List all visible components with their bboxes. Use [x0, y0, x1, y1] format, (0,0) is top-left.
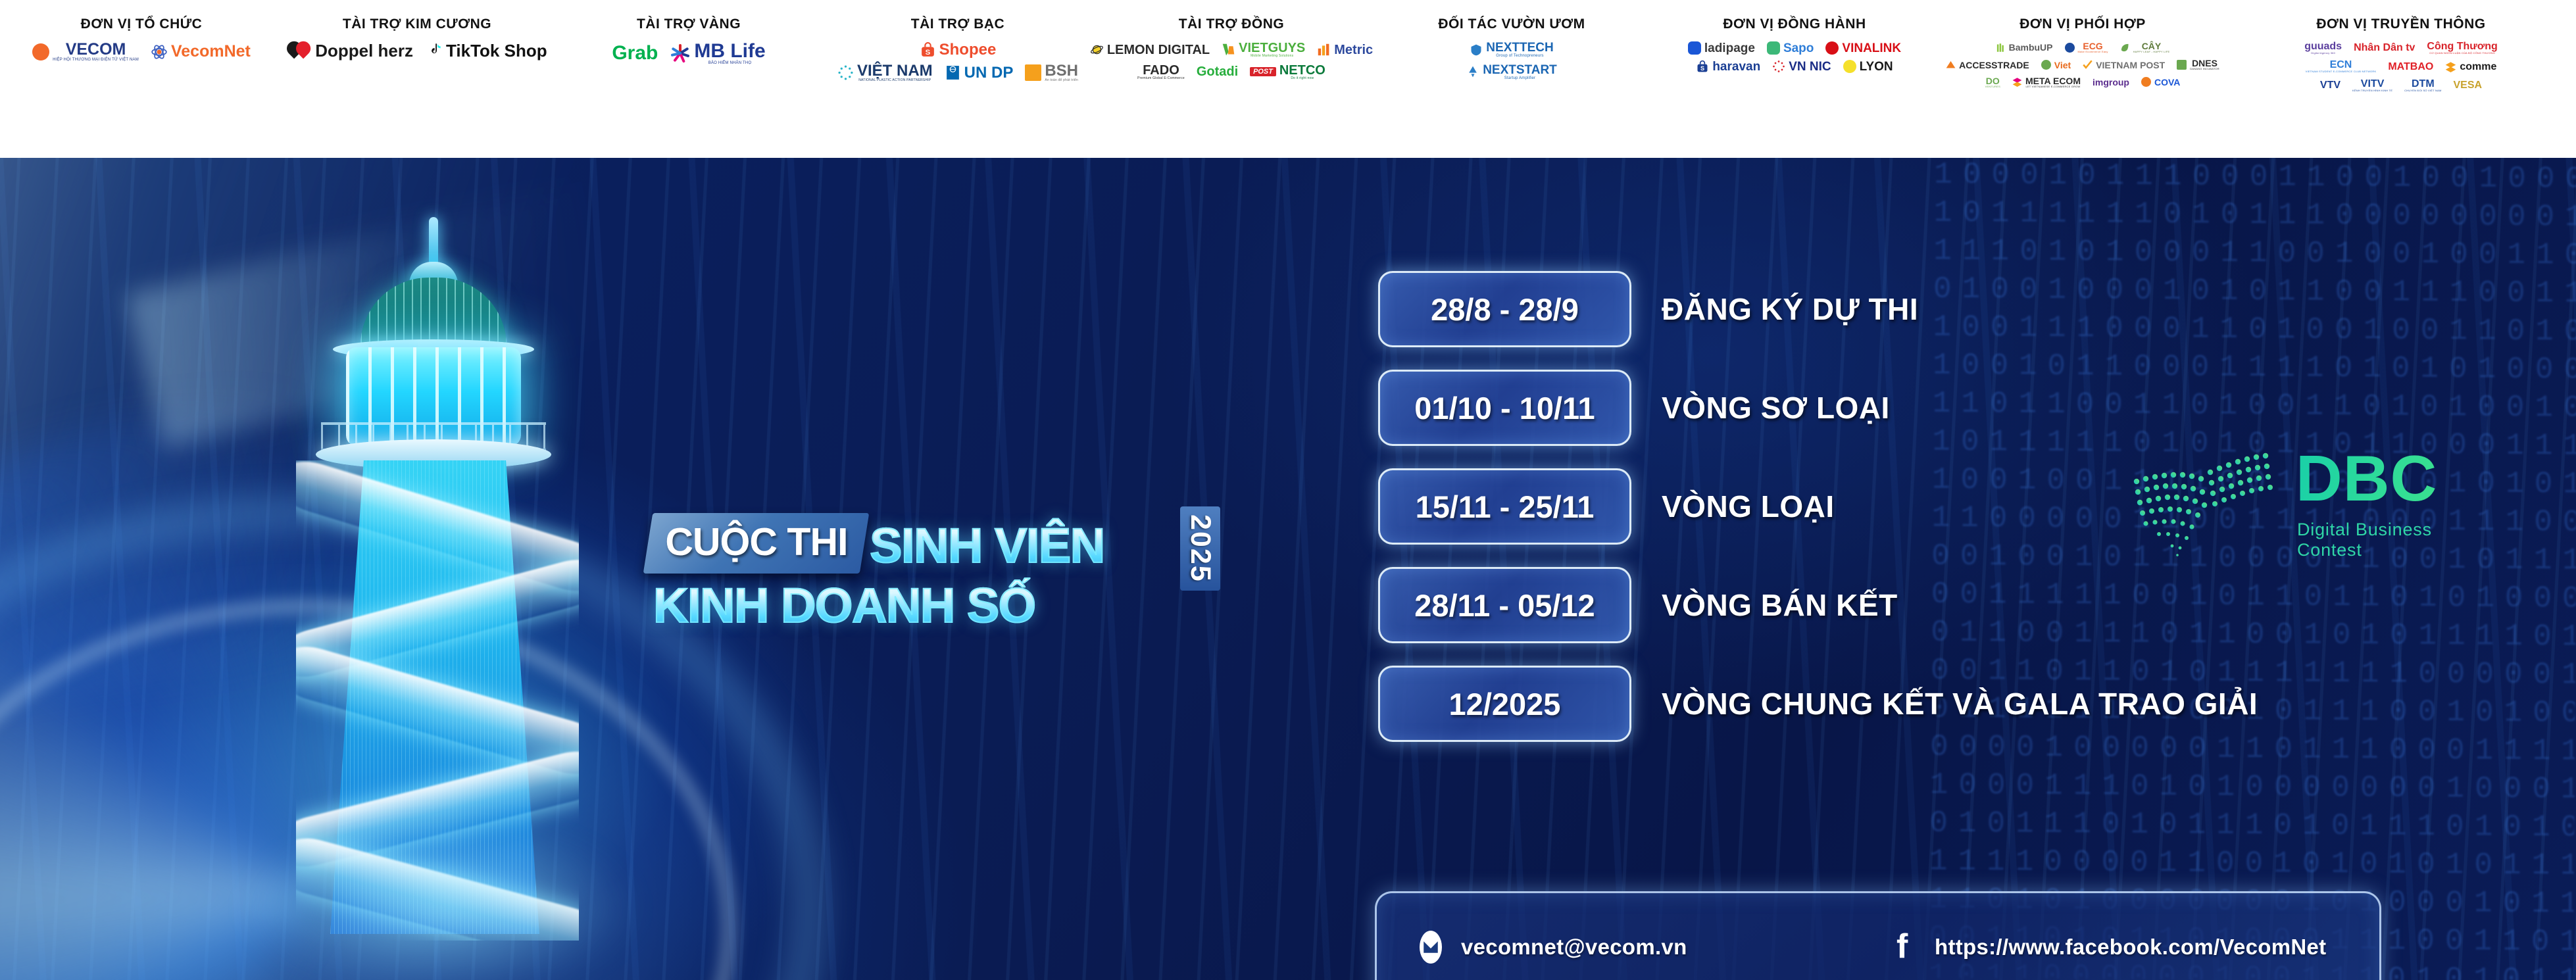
guuads-logo[interactable]: guuads Digital Agency 360: [2304, 41, 2342, 55]
triangle-icon: [1946, 60, 1956, 70]
logo-mark-icon: [32, 43, 49, 61]
sponsor-logo-rows: Doppel herz TikTok Shop: [287, 41, 547, 59]
vnnic-logo[interactable]: VN NIC: [1772, 60, 1831, 73]
logo-text: Shopee: [939, 42, 997, 58]
contact-box: vecomnet@vecom.vn f https://www.facebook…: [1375, 891, 2381, 980]
event-banner: 1000101110001100100100000110011010 10111…: [0, 158, 2576, 980]
bsh-logo[interactable]: BSH An toàn để phát triển: [1025, 63, 1078, 83]
logo-text: Gotadi: [1197, 65, 1238, 78]
title-line-2-text: KINH DOANH SỐ: [648, 577, 1041, 633]
post-badge-icon: POST: [1250, 67, 1276, 76]
logo-text: VN NIC: [1789, 61, 1831, 73]
logo-text: haravan: [1712, 61, 1760, 73]
sponsor-group-title: TÀI TRỢ KIM CƯƠNG: [343, 17, 491, 31]
undp-globe-icon: [945, 64, 961, 81]
title-year: 2025: [1180, 506, 1220, 591]
logo-text: VTV: [2320, 80, 2341, 91]
logo-text: NEXTTECH: [1486, 41, 1553, 54]
lighthouse-illustration: [217, 178, 651, 941]
star-burst-icon: [670, 43, 691, 64]
title-line-2: KINH DOANH SỐ: [648, 577, 1227, 633]
lighthouse-spire: [429, 217, 438, 268]
shield-icon: [1470, 43, 1483, 57]
fado-logo[interactable]: FADO Premium Global E-Commerce: [1137, 64, 1185, 81]
logo-text: UN DP: [964, 65, 1014, 81]
sponsor-logo-row: Doppel herz TikTok Shop: [287, 41, 547, 59]
sponsor-group-title: ĐƠN VỊ ĐỒNG HÀNH: [1723, 17, 1866, 31]
schedule-date-badge: 15/11 - 25/11: [1378, 468, 1631, 545]
sponsor-logo-row: VTV VITV KÊNH TRUYỀN HÌNH KINH TẾ DTM CH…: [2320, 79, 2482, 92]
schedule-phase-label: ĐĂNG KÝ DỰ THI: [1662, 291, 1918, 327]
logo-text: LYON: [1860, 61, 1893, 73]
haravan-logo[interactable]: S haravan: [1696, 60, 1760, 73]
logo-text: DO: [1986, 76, 2000, 86]
sponsor-group-9: ĐƠN VỊ TRUYỀN THÔNG guuads Digital Agenc…: [2226, 0, 2576, 158]
lighthouse-base-glow: [243, 822, 638, 980]
logo-subtext: Startup Amplifier: [1504, 76, 1535, 81]
contact-facebook[interactable]: f https://www.facebook.com/VecomNet: [1887, 930, 2342, 964]
schedule-date-badge: 12/2025: [1378, 666, 1631, 742]
doppelherz-logo[interactable]: Doppel herz: [287, 41, 413, 59]
sponsor-logo-row: NEXTSTART Startup Amplifier: [1466, 64, 1557, 81]
ladipage-logo[interactable]: ladipage: [1688, 41, 1755, 55]
logo-text: VINALINK: [1842, 42, 1901, 55]
leaf-icon: [2120, 43, 2130, 53]
sponsor-group-6: ĐỐI TÁC VƯỜN ƯƠM NEXTTECH Group of Techn…: [1374, 0, 1650, 158]
logo-text: ACCESSTRADE: [1959, 61, 2029, 70]
logo-text: VESA: [2453, 80, 2482, 91]
title-chip: CUỘC THI: [643, 513, 870, 574]
schedule-row-5: 12/2025 VÒNG CHUNG KẾT VÀ GALA TRAO GIẢI: [1378, 654, 2404, 753]
sponsor-header: ĐƠN VỊ TỔ CHỨC VECOM HIỆP HỘI THƯƠNG MẠI…: [0, 0, 2576, 158]
atom-icon: [151, 43, 168, 61]
vietguys-v-icon: [1222, 43, 1235, 57]
sponsor-group-title: TÀI TRỢ BẠC: [911, 17, 1004, 31]
schedule-phase-label: VÒNG SƠ LOẠI: [1662, 390, 1890, 426]
logo-subtext: Premium Global E-Commerce: [1137, 77, 1185, 81]
logo-text: VIETGUYS: [1239, 41, 1305, 55]
ecn-logo[interactable]: ECN VIETNAM STUDENT E-COMMERCE CLUB NETW…: [2306, 60, 2377, 73]
schedule-date-text: 12/2025: [1449, 686, 1561, 722]
cova-logo[interactable]: COVA: [2141, 77, 2180, 87]
logo-subtext: An toàn để phát triển: [1045, 79, 1078, 83]
lemon-digital-logo[interactable]: LEMON DIGITAL: [1090, 43, 1210, 57]
logo-text: ladipage: [1704, 42, 1755, 55]
sponsor-group-5: TÀI TRỢ ĐỒNG LEMON DIGITAL VIETGUYS Mobi…: [1089, 0, 1374, 158]
shopping-bag-icon: S: [920, 41, 936, 58]
title-line-1-text: SINH VIÊN: [864, 518, 1110, 574]
sponsor-logo-row: FADO Premium Global E-Commerce Gotadi PO…: [1137, 64, 1325, 81]
accesstrade-logo[interactable]: ACCESSTRADE: [1946, 60, 2029, 70]
sponsor-logo-row: ladipage Sapo VINALINK: [1688, 41, 1901, 55]
schedule-date-badge: 28/11 - 05/12: [1378, 567, 1631, 643]
logo-subtext: Mobile Marketing Solutions: [1251, 55, 1293, 59]
sponsor-logo-rows: guuads Digital Agency 360 Nhân Dân tv Cô…: [2304, 41, 2498, 92]
dots-ring-icon: [837, 64, 854, 81]
dbc-tagline: Digital Business Contest: [2297, 520, 2500, 560]
sponsor-group-title: ĐƠN VỊ PHỐI HỢP: [2019, 17, 2146, 31]
logo-text: BSH: [1045, 63, 1078, 79]
facebook-icon: f: [1887, 930, 1921, 964]
sponsor-group-title: TÀI TRỢ VÀNG: [637, 17, 741, 31]
sponsor-logo-row: VIỆT NAM NATIONAL PLASTIC ACTION PARTNER…: [837, 63, 1078, 83]
schedule-row-1: 28/8 - 28/9 ĐĂNG KÝ DỰ THI: [1378, 260, 2404, 358]
logo-subtext: Do it right now: [1291, 77, 1314, 81]
logo-subtext: DANANG INCUBATOR: [2190, 68, 2219, 70]
logo-subtext: NATIONAL PLASTIC ACTION PARTNERSHIP: [858, 79, 931, 83]
schedule-date-text: 01/10 - 10/11: [1414, 390, 1595, 426]
vitv-logo[interactable]: VITV KÊNH TRUYỀN HÌNH KINH TẾ: [2352, 79, 2392, 92]
logo-subtext: VENTURES: [1985, 86, 2000, 88]
logo-text: VECOM: [66, 41, 126, 58]
logo-subtext: CƠ QUAN NGÔN LUẬN CỦA BỘ CÔNG THƯƠNG: [2429, 52, 2495, 55]
shopee-logo[interactable]: S Shopee: [920, 41, 997, 58]
tiktok-shop-logo[interactable]: TikTok Shop: [425, 41, 547, 59]
svg-text:S: S: [1700, 65, 1704, 72]
cong-thuong-logo[interactable]: Công Thương CƠ QUAN NGÔN LUẬN CỦA BỘ CÔN…: [2427, 41, 2497, 55]
logo-subtext: Digital Agency 360: [2311, 52, 2335, 55]
sponsor-group-title: ĐƠN VỊ TỔ CHỨC: [81, 17, 203, 31]
dbc-wordmark: DBC: [2296, 446, 2437, 510]
sponsor-logo-rows: VECOM HIỆP HỘI THƯƠNG MẠI ĐIỆN TỬ VIỆT N…: [32, 41, 251, 62]
nexttech-logo[interactable]: NEXTTECH Group of Technopreneurs: [1470, 41, 1553, 59]
logo-text: VecomNet: [171, 43, 251, 60]
sponsor-logo-row: DO VENTURES META ECOM LET VIETNAMESE E-C…: [1985, 76, 2181, 88]
contact-email-text: vecomnet@vecom.vn: [1461, 935, 1687, 960]
logo-text: LEMON DIGITAL: [1107, 43, 1210, 57]
contest-title-lockup: CUỘC THI SINH VIÊN KINH DOANH SỐ 2025: [648, 513, 1227, 697]
mblife-logo[interactable]: MB Life BẢO HIỂM NHÂN THỌ: [670, 41, 765, 66]
schedule-date-badge: 28/8 - 28/9: [1378, 271, 1631, 347]
imgroup-logo[interactable]: imgroup: [2093, 78, 2129, 87]
dots-ring-icon: [1772, 60, 1785, 73]
sponsor-logo-rows: LEMON DIGITAL VIETGUYS Mobile Marketing …: [1090, 41, 1373, 80]
logo-text: Grab: [612, 43, 658, 63]
logo-text: Sapo: [1783, 42, 1814, 55]
sponsor-group-title: ĐƠN VỊ TRUYỀN THÔNG: [2316, 17, 2485, 31]
matbao-logo[interactable]: MATBAO: [2388, 62, 2433, 72]
logo-subtext: VIETNAM STUDENT E-COMMERCE CLUB NETWORK: [2306, 70, 2377, 73]
tiktok-note-icon: [425, 41, 443, 59]
vesa-logo[interactable]: VESA: [2453, 80, 2482, 91]
dtm-logo[interactable]: DTM CHUYỂN ĐỔI SỐ VIỆT NAM: [2404, 79, 2441, 92]
logo-mark-icon: [1767, 41, 1780, 55]
sponsor-logo-rows: Grab MB Life BẢO HIỂM NHÂN THỌ: [612, 41, 765, 66]
logo-subtext: Group of Technopreneurs: [1496, 54, 1544, 59]
logo-mark-icon: [1025, 64, 1041, 81]
logo-subtext: HAPPY LEAF - HAPPY LIFE: [2133, 51, 2170, 53]
logo-mark-icon: [2065, 43, 2075, 53]
bar-chart-icon: [1317, 43, 1331, 57]
sponsor-group-title: TÀI TRỢ ĐỒNG: [1179, 17, 1284, 31]
rocket-icon: [1466, 65, 1479, 78]
netco-post-logo[interactable]: POST NETCO Do it right now: [1250, 64, 1325, 81]
sponsor-logo-row: ECN VIETNAM STUDENT E-COMMERCE CLUB NETW…: [2306, 60, 2497, 73]
logo-text: VIỆT NAM: [857, 63, 933, 79]
logo-text: CÂY: [2142, 41, 2162, 51]
vietnam-post-logo[interactable]: VIETNAM POST: [2083, 60, 2165, 70]
dbc-mark-icon: [2131, 441, 2292, 559]
email-icon: [1414, 930, 1448, 964]
check-icon: [2083, 60, 2093, 70]
npap-vietnam-logo[interactable]: VIỆT NAM NATIONAL PLASTIC ACTION PARTNER…: [837, 63, 933, 83]
lyon-logo[interactable]: LYON: [1843, 60, 1893, 73]
logo-text: Viet: [2054, 61, 2071, 70]
schedule-date-badge: 01/10 - 10/11: [1378, 370, 1631, 446]
svg-text:S: S: [925, 49, 930, 57]
logo-mark-icon: [1825, 41, 1839, 55]
logo-text: MB Life: [694, 41, 765, 61]
vecom-logo[interactable]: VECOM HIỆP HỘI THƯƠNG MẠI ĐIỆN TỬ VIỆT N…: [32, 41, 139, 62]
vietguys-logo[interactable]: VIETGUYS Mobile Marketing Solutions: [1222, 41, 1305, 59]
logo-text: COVA: [2154, 78, 2180, 87]
sapo-logo[interactable]: Sapo: [1767, 41, 1814, 55]
layers-icon: [2445, 61, 2456, 72]
logo-text: NEXTSTART: [1483, 64, 1557, 76]
nextstart-logo[interactable]: NEXTSTART Startup Amplifier: [1466, 64, 1557, 81]
sponsor-logo-row: Grab MB Life BẢO HIỂM NHÂN THỌ: [612, 41, 765, 66]
comme-logo[interactable]: comme: [2445, 61, 2496, 72]
logo-text: Nhân Dân tv: [2354, 43, 2415, 53]
cay-logo[interactable]: CÂY HAPPY LEAF - HAPPY LIFE: [2120, 41, 2170, 53]
logo-text: DNES: [2192, 59, 2217, 68]
ecg-logo[interactable]: ECG Make Ecommerce Easy: [2065, 41, 2108, 53]
gotadi-logo[interactable]: Gotadi: [1197, 65, 1238, 78]
schedule-phase-label: VÒNG LOẠI: [1662, 489, 1835, 524]
layers-icon: [2012, 77, 2022, 87]
sponsor-logo-row: VECOM HIỆP HỘI THƯƠNG MẠI ĐIỆN TỬ VIỆT N…: [32, 41, 251, 62]
sponsor-group-4: TÀI TRỢ BẠCS Shopee VIỆT NAM NATIONAL PL…: [826, 0, 1089, 158]
bamboo-icon: [1996, 43, 2006, 53]
schedule-date-text: 15/11 - 25/11: [1416, 489, 1595, 525]
meta-ecom-logo[interactable]: META ECOM LET VIETNAMESE E-COMMERCE GROW: [2012, 76, 2081, 88]
sponsor-group-7: ĐƠN VỊ ĐỒNG HÀNH ladipage Sapo VINALINK …: [1650, 0, 1939, 158]
contact-facebook-text: https://www.facebook.com/VecomNet: [1935, 935, 2326, 960]
logo-text: imgroup: [2093, 78, 2129, 87]
logo-mark-icon: [2041, 60, 2051, 70]
sponsor-group-1: ĐƠN VỊ TỔ CHỨC VECOM HIỆP HỘI THƯƠNG MẠI…: [0, 0, 283, 158]
sponsor-group-title: ĐỐI TÁC VƯỜN ƯƠM: [1438, 17, 1585, 31]
nhan-dan-tv-logo[interactable]: Nhân Dân tv: [2354, 43, 2415, 53]
logo-text: TikTok Shop: [446, 42, 547, 59]
sponsor-group-8: ĐƠN VỊ PHỐI HỢP BambuUP ECG Make Ecommer…: [1939, 0, 2226, 158]
logo-text: VIETNAM POST: [2096, 61, 2165, 70]
logo-text: BambuUP: [2009, 43, 2053, 52]
sponsor-group-2: TÀI TRỢ KIM CƯƠNG Doppel herz TikTok Sho…: [283, 0, 551, 158]
logo-text: ECN: [2330, 60, 2352, 70]
iviet-logo[interactable]: Viet: [2041, 60, 2071, 70]
logo-text: Metric: [1334, 43, 1373, 57]
logo-text: DTM: [2412, 79, 2435, 89]
vinalink-logo[interactable]: VINALINK: [1825, 41, 1901, 55]
grab-logo[interactable]: Grab: [612, 43, 658, 63]
logo-text: Công Thương: [2427, 41, 2497, 52]
sponsor-logo-row: BambuUP ECG Make Ecommerce Easy CÂY HAPP…: [1996, 41, 2170, 53]
schedule-date-text: 28/8 - 28/9: [1431, 291, 1579, 328]
undp-logo[interactable]: UN DP: [945, 64, 1014, 81]
schedule-date-text: 28/11 - 05/12: [1414, 587, 1595, 624]
logo-subtext: KÊNH TRUYỀN HÌNH KINH TẾ: [2352, 89, 2392, 92]
logo-text: comme: [2460, 62, 2496, 72]
sponsor-logo-row: NEXTTECH Group of Technopreneurs: [1470, 41, 1553, 59]
logo-text: MATBAO: [2388, 62, 2433, 72]
logo-mark-icon: [2177, 60, 2187, 70]
vecomnet-logo[interactable]: VecomNet: [151, 43, 251, 61]
logo-mark-icon: [1688, 41, 1701, 55]
schedule-phase-label: VÒNG BÁN KẾT: [1662, 587, 1898, 623]
hearts-icon: [287, 41, 312, 59]
dnes-logo[interactable]: DNES DANANG INCUBATOR: [2177, 59, 2219, 70]
contact-email[interactable]: vecomnet@vecom.vn: [1414, 930, 1874, 964]
vtv-logo[interactable]: VTV: [2320, 80, 2341, 91]
logo-subtext: CHUYỂN ĐỔI SỐ VIỆT NAM: [2404, 89, 2441, 92]
logo-subtext: BẢO HIỂM NHÂN THỌ: [708, 61, 752, 66]
logo-text: Doppel herz: [315, 42, 413, 59]
title-chip-label: CUỘC THI: [665, 520, 847, 564]
logo-subtext: HIỆP HỘI THƯƠNG MẠI ĐIỆN TỬ VIỆT NAM: [53, 58, 139, 62]
logo-text: FADO: [1143, 64, 1179, 77]
logo-subtext: Make Ecommerce Easy: [2078, 51, 2108, 53]
do-ventures-logo[interactable]: DO VENTURES: [1985, 76, 2000, 88]
sponsor-logo-row: LEMON DIGITAL VIETGUYS Mobile Marketing …: [1090, 41, 1373, 59]
sponsor-logo-rows: BambuUP ECG Make Ecommerce Easy CÂY HAPP…: [1946, 41, 2219, 88]
sponsor-logo-rows: S Shopee VIỆT NAM NATIONAL PLASTIC ACTIO…: [837, 41, 1078, 83]
sponsor-logo-row: ACCESSTRADE Viet VIETNAM POST DNES DANAN…: [1946, 59, 2219, 70]
logo-text: guuads: [2304, 41, 2342, 52]
svg-text:f: f: [1896, 930, 1908, 964]
schedule-phase-label: VÒNG CHUNG KẾT VÀ GALA TRAO GIẢI: [1662, 686, 2258, 722]
bambuup-logo[interactable]: BambuUP: [1996, 43, 2053, 53]
title-line-1: CUỘC THI SINH VIÊN: [648, 513, 1227, 574]
logo-text: META ECOM: [2025, 76, 2081, 86]
logo-subtext: LET VIETNAMESE E-COMMERCE GROW: [2025, 86, 2080, 88]
logo-mark-icon: [2141, 77, 2151, 87]
sponsor-logo-row: S Shopee: [920, 41, 997, 58]
sponsor-logo-rows: NEXTTECH Group of Technopreneurs NEXTSTA…: [1466, 41, 1557, 80]
sponsor-group-3: TÀI TRỢ VÀNG Grab MB Life BẢO HIỂM NHÂN …: [551, 0, 826, 158]
logo-text: NETCO: [1279, 64, 1325, 77]
sponsor-logo-row: S haravan VN NIC LYON: [1696, 60, 1893, 73]
sponsor-logo-row: guuads Digital Agency 360 Nhân Dân tv Cô…: [2304, 41, 2498, 55]
shopping-bag-icon: S: [1696, 60, 1709, 73]
logo-text: ECG: [2083, 41, 2102, 51]
planet-icon: [1090, 43, 1104, 57]
metric-logo[interactable]: Metric: [1317, 43, 1373, 57]
sponsor-logo-rows: ladipage Sapo VINALINK S haravan VN NIC …: [1688, 41, 1901, 73]
logo-text: VITV: [2361, 79, 2385, 89]
dbc-logo: DBC Digital Business Contest: [2131, 421, 2500, 572]
logo-mark-icon: [1843, 60, 1856, 73]
